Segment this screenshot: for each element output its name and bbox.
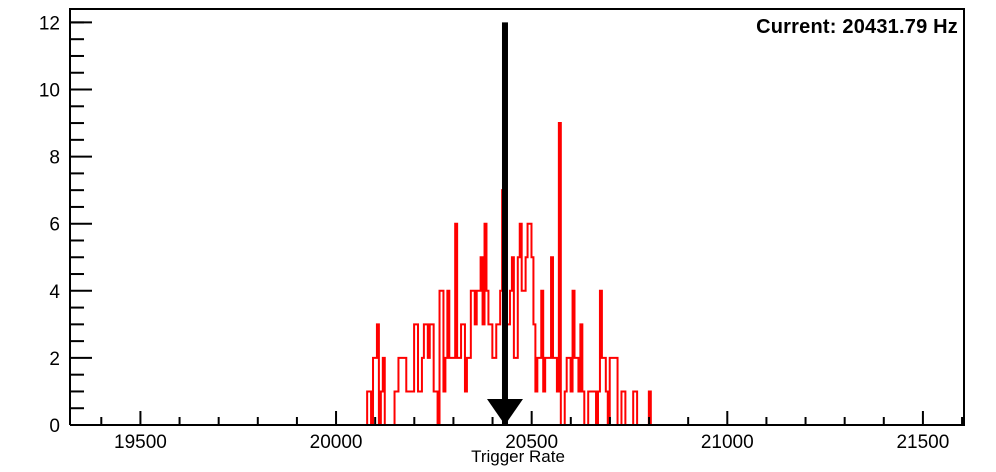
trigger-rate-histogram-panel: 024681012 1950020000205002100021500 Trig… [0, 0, 996, 472]
x-tick-label: 19500 [114, 432, 167, 453]
x-axis-title: Trigger Rate [471, 447, 565, 466]
y-tick-label: 12 [39, 13, 60, 34]
y-tick-label: 4 [49, 282, 60, 303]
x-tick-label: 21500 [896, 432, 949, 453]
chart-canvas: 024681012 1950020000205002100021500 Trig… [0, 0, 996, 472]
y-tick-label: 6 [49, 215, 60, 236]
y-tick-label: 10 [39, 81, 60, 102]
y-tick-label: 0 [49, 416, 60, 437]
x-tick-label: 20000 [310, 432, 363, 453]
current-rate-readout: Current: 20431.79 Hz [756, 16, 958, 39]
y-tick-label: 2 [49, 349, 60, 370]
x-tick-label: 21000 [701, 432, 754, 453]
y-tick-label: 8 [49, 148, 60, 169]
